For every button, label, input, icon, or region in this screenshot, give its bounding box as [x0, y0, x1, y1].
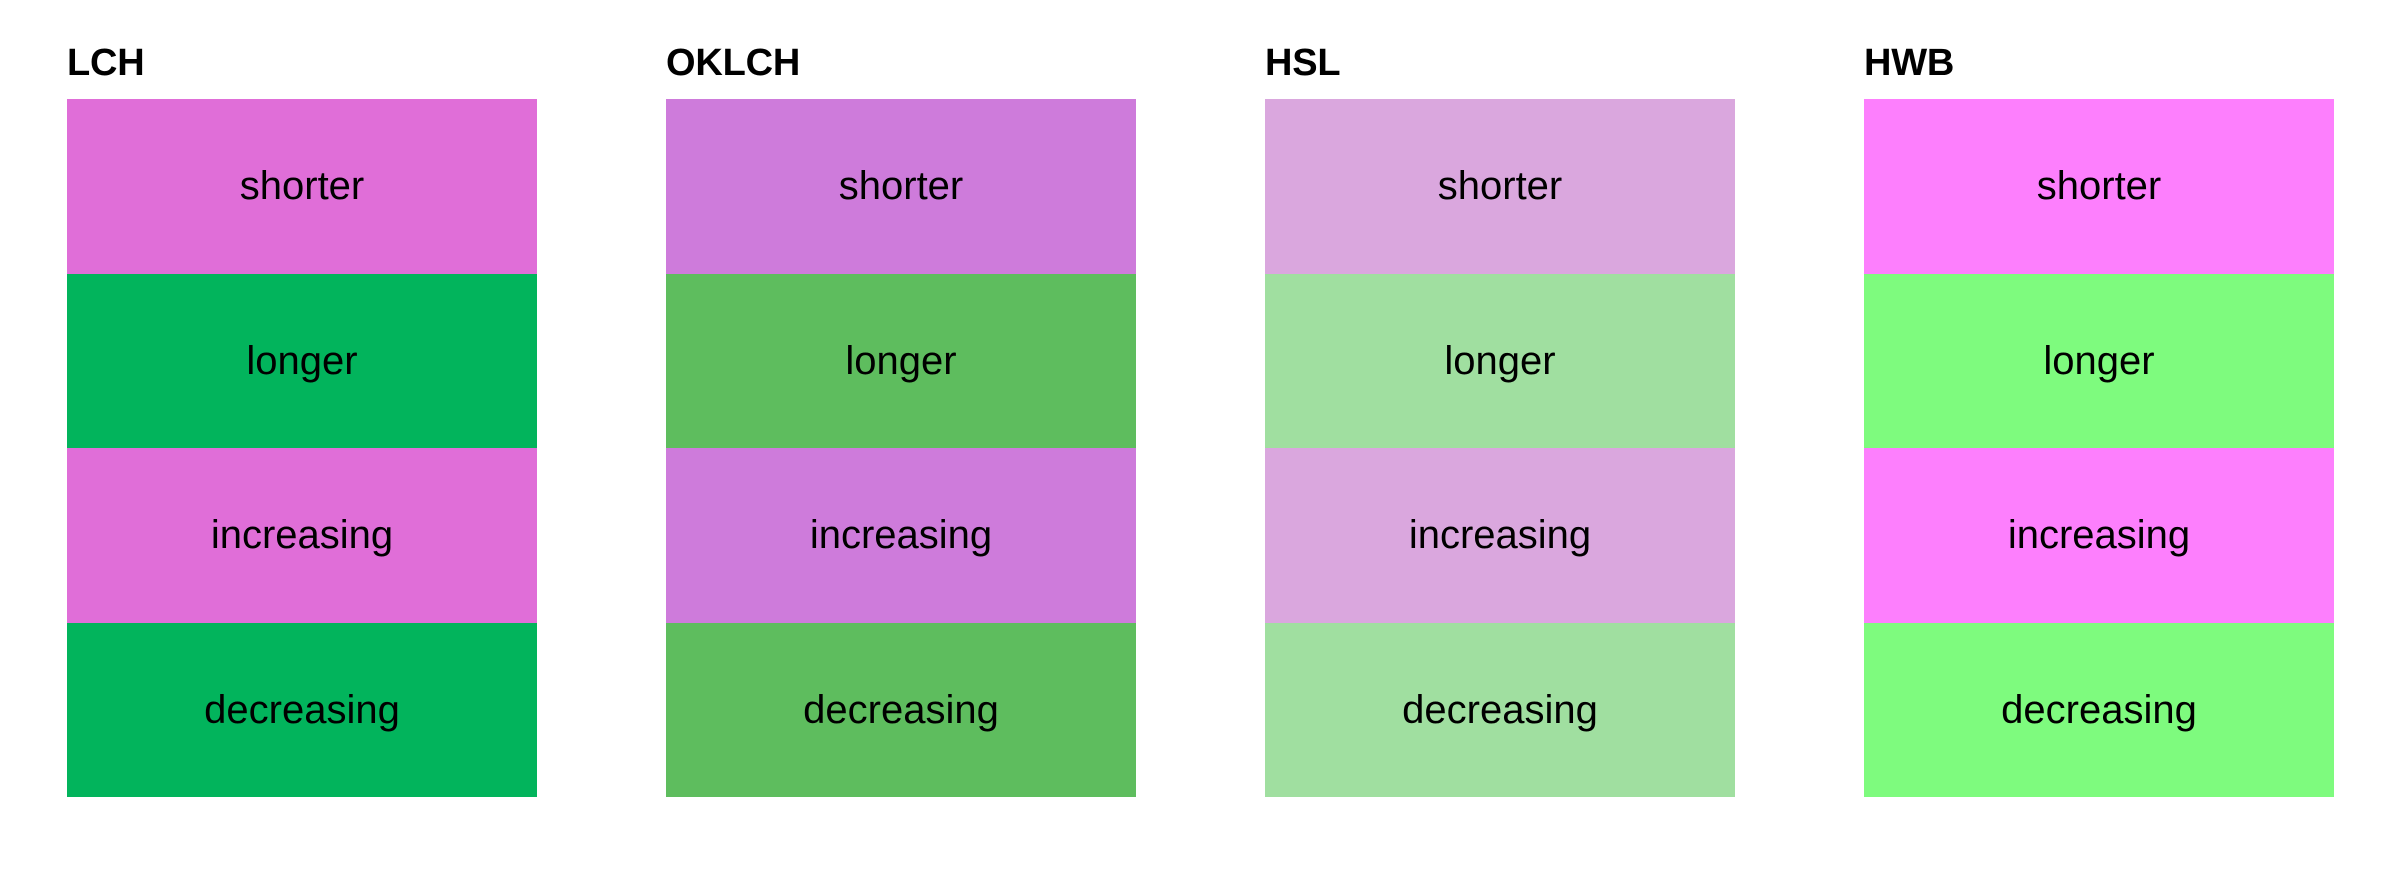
swatch-shorter: shorter — [1265, 99, 1735, 274]
swatch-longer: longer — [1864, 274, 2334, 449]
swatch-label: shorter — [2037, 166, 2162, 206]
swatch-stack: shorterlongerincreasingdecreasing — [67, 99, 537, 797]
swatch-increasing: increasing — [666, 448, 1136, 623]
column-title-hsl: HSL — [1265, 44, 1735, 82]
swatch-label: decreasing — [204, 690, 400, 730]
swatch-label: increasing — [1409, 515, 1591, 555]
swatch-longer: longer — [1265, 274, 1735, 449]
column-title-lch: LCH — [67, 44, 537, 82]
swatch-decreasing: decreasing — [1265, 623, 1735, 798]
column-title-hwb: HWB — [1864, 44, 2334, 82]
swatch-label: decreasing — [803, 690, 999, 730]
swatch-stack: shorterlongerincreasingdecreasing — [1265, 99, 1735, 797]
swatch-shorter: shorter — [1864, 99, 2334, 274]
color-space-comparison-grid: LCHshorterlongerincreasingdecreasingOKLC… — [0, 0, 2398, 880]
swatch-decreasing: decreasing — [1864, 623, 2334, 798]
swatch-label: shorter — [1438, 166, 1563, 206]
swatch-stack: shorterlongerincreasingdecreasing — [1864, 99, 2334, 797]
swatch-shorter: shorter — [666, 99, 1136, 274]
swatch-label: increasing — [211, 515, 393, 555]
swatch-increasing: increasing — [1265, 448, 1735, 623]
swatch-label: shorter — [839, 166, 964, 206]
swatch-label: shorter — [240, 166, 365, 206]
color-space-column: LCHshorterlongerincreasingdecreasing — [67, 44, 537, 797]
color-space-column: HWBshorterlongerincreasingdecreasing — [1864, 44, 2334, 797]
color-space-column: HSLshorterlongerincreasingdecreasing — [1265, 44, 1735, 797]
swatch-shorter: shorter — [67, 99, 537, 274]
color-space-column: OKLCHshorterlongerincreasingdecreasing — [666, 44, 1136, 797]
swatch-longer: longer — [666, 274, 1136, 449]
swatch-stack: shorterlongerincreasingdecreasing — [666, 99, 1136, 797]
swatch-longer: longer — [67, 274, 537, 449]
swatch-label: decreasing — [1402, 690, 1598, 730]
swatch-decreasing: decreasing — [67, 623, 537, 798]
swatch-label: longer — [845, 341, 956, 381]
swatch-label: increasing — [2008, 515, 2190, 555]
column-title-oklch: OKLCH — [666, 44, 1136, 82]
swatch-label: longer — [246, 341, 357, 381]
swatch-decreasing: decreasing — [666, 623, 1136, 798]
swatch-label: longer — [1444, 341, 1555, 381]
swatch-increasing: increasing — [67, 448, 537, 623]
swatch-label: longer — [2043, 341, 2154, 381]
swatch-label: decreasing — [2001, 690, 2197, 730]
swatch-label: increasing — [810, 515, 992, 555]
swatch-increasing: increasing — [1864, 448, 2334, 623]
